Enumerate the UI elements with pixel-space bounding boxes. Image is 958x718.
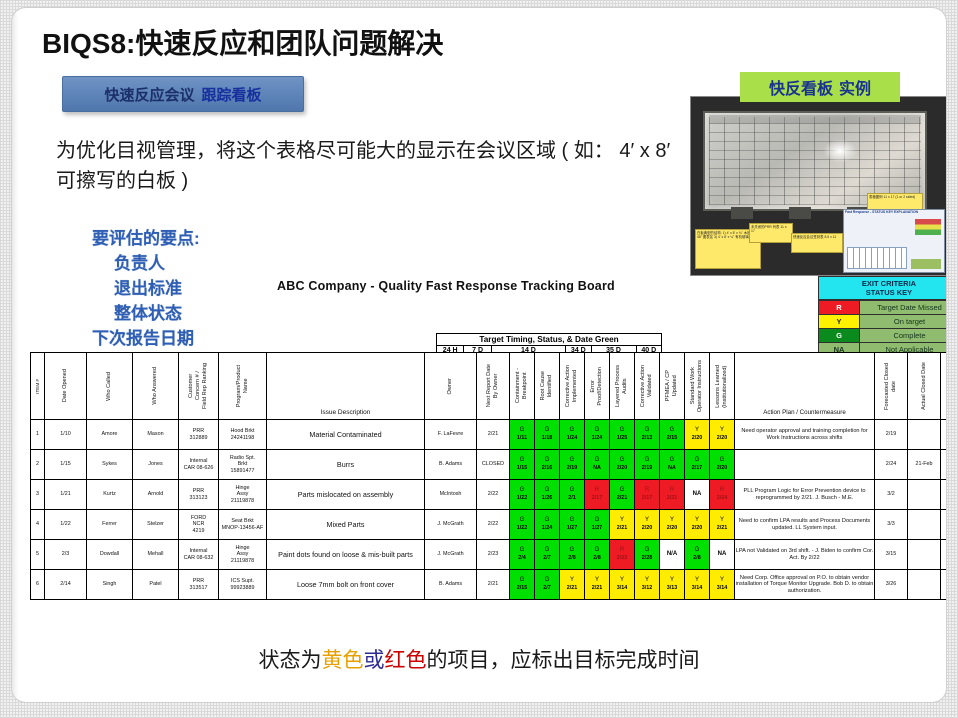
cell-status-7: G2/15	[660, 420, 685, 450]
cell-status-6: G2/19	[635, 450, 660, 480]
cell-actual-closed	[908, 510, 941, 540]
cell-next-report: CLOSED	[477, 450, 510, 480]
cell-status-3: G1/24	[560, 420, 585, 450]
cell-date-opened: 2/14	[45, 570, 87, 600]
cell-issue-description: Loose 7mm bolt on front cover	[267, 570, 425, 600]
footer-red-word: 红色	[385, 649, 427, 672]
slide-canvas: BIQS8:快速反应和团队问题解决 快速反应会议 跟踪看板 为优化目视管理，将这…	[12, 8, 946, 702]
cell-owner: J. McGrath	[425, 510, 477, 540]
cell-program-product: Radio Spt. Brkt 15891477	[219, 450, 267, 480]
cell-status-8: G2/17	[685, 450, 710, 480]
legend-label-g: Complete	[860, 329, 946, 342]
cell-issue-description: Mixed Parts	[267, 510, 425, 540]
header-forecasted-closed: Forecasted Closed date	[875, 353, 908, 420]
cell-status-8: Y3/14	[685, 570, 710, 600]
cell-status-5: G2/21	[610, 480, 635, 510]
footer-part-b: 的项目，应标出目标完成时间	[427, 649, 700, 672]
cell-customer-concern: PRR 312889	[179, 420, 219, 450]
cell-status-4: G1/24	[585, 420, 610, 450]
cell-program-product: Seat Brkt MNOP-13456-AF	[219, 510, 267, 540]
cell-date-opened: 1/10	[45, 420, 87, 450]
cell-forecasted-closed: 3/15	[875, 540, 908, 570]
cell-customer-closed: 18-Feb	[941, 450, 947, 480]
cell-item: 3	[31, 480, 45, 510]
board-photo: 白板典型的结构: 1) 4' x 8' x ¾" 木板 2) 48" 图表区 3…	[690, 96, 946, 276]
cell-who-called: Kurtz	[87, 480, 133, 510]
cell-item: 1	[31, 420, 45, 450]
footer-yellow-word: 黄色	[322, 649, 364, 672]
cell-customer-closed: 25-Jan	[941, 420, 947, 450]
cell-customer-concern: Internal CAR 08-626	[179, 450, 219, 480]
table-row: 62/14SinghPatelPRR 313517ICS Supt. 99923…	[31, 570, 947, 600]
cell-next-report: 2/21	[477, 420, 510, 450]
cell-status-9: Y2/21	[710, 510, 735, 540]
cell-issue-description: Parts mislocated on assembly	[267, 480, 425, 510]
cell-actual-closed	[908, 540, 941, 570]
legend-key-r: R	[819, 301, 860, 314]
cell-item: 5	[31, 540, 45, 570]
photo-example-label: 快反看板 实例	[740, 72, 900, 102]
cell-status-2: G1/24	[535, 510, 560, 540]
header-error-proof: Error Proof/Detection	[585, 353, 610, 420]
key-point-overall-status: 整体状态	[114, 301, 200, 326]
inset-green-block	[911, 259, 941, 269]
cell-status-3: G2/8	[560, 540, 585, 570]
legend-header: EXIT CRITERIA STATUS KEY	[819, 277, 946, 300]
header-date-opened: Date Opened	[45, 353, 87, 420]
cell-status-4: GNA	[585, 450, 610, 480]
cell-action-plan: PLL Program Logic for Error Prevention d…	[735, 480, 875, 510]
cell-status-8: Y2/20	[685, 420, 710, 450]
key-points-list: 要评估的要点: 负责人 退出标准 整体状态 下次报告日期	[92, 226, 200, 351]
cell-status-1: G2/15	[510, 570, 535, 600]
header-customer-closed: Customer Closed Date	[941, 353, 947, 420]
cell-status-6: Y2/20	[635, 510, 660, 540]
cell-status-7: N/A	[660, 540, 685, 570]
cell-status-5: Y3/14	[610, 570, 635, 600]
cell-status-4: Y2/21	[585, 570, 610, 600]
cell-date-opened: 1/22	[45, 510, 87, 540]
cell-issue-description: Burrs	[267, 450, 425, 480]
cell-status-1: G1/22	[510, 510, 535, 540]
cell-who-answered: Mehall	[133, 540, 179, 570]
legend-row: Y On target	[819, 314, 946, 328]
legend-header-line1: EXIT CRITERIA	[819, 279, 946, 288]
cell-status-9: Y3/14	[710, 570, 735, 600]
header-corrective-action-implemented: Corrective Action Implemented	[560, 353, 585, 420]
cell-item: 6	[31, 570, 45, 600]
cell-status-4: G2/8	[585, 540, 610, 570]
cell-who-answered: Arnold	[133, 480, 179, 510]
inset-chart	[847, 247, 907, 269]
cell-status-6: R2/17	[635, 480, 660, 510]
cell-customer-concern: PRR 313123	[179, 480, 219, 510]
page-title: BIQS8:快速反应和团队问题解决	[42, 22, 443, 62]
board-leg	[789, 207, 811, 219]
cell-owner: B. Adams	[425, 570, 477, 600]
header-next-report: Next Report Date By Owner	[477, 353, 510, 420]
cell-who-answered: Patel	[133, 570, 179, 600]
table-row: 52/3DowdallMehallInternal CAR 08-632Hing…	[31, 540, 947, 570]
cell-forecasted-closed: 3/2	[875, 480, 908, 510]
cell-date-opened: 1/21	[45, 480, 87, 510]
cell-forecasted-closed: 3/3	[875, 510, 908, 540]
cell-owner: J. McGrath	[425, 540, 477, 570]
cell-status-8: NA	[685, 480, 710, 510]
cell-program-product: Hinge Assy 21119878	[219, 480, 267, 510]
cell-next-report: 2/22	[477, 510, 510, 540]
cell-who-answered: Jones	[133, 450, 179, 480]
photo-label-primary: 快反看板	[769, 75, 833, 99]
table-header-row: ITEM # Date Opened Who Called Who Answer…	[31, 353, 947, 420]
cell-status-6: G2/13	[635, 420, 660, 450]
glare-highlight	[823, 139, 857, 163]
cell-status-1: G1/11	[510, 420, 535, 450]
cell-status-9: NA	[710, 540, 735, 570]
board-leg	[731, 207, 753, 219]
header-issue-description: Issue Description	[267, 353, 425, 420]
cell-actual-closed	[908, 420, 941, 450]
cell-item: 2	[31, 450, 45, 480]
page-backdrop: BIQS8:快速反应和团队问题解决 快速反应会议 跟踪看板 为优化目视管理，将这…	[0, 0, 958, 718]
table-row: 11/10AmoreMasonPRR 312889Hood Brkt 24241…	[31, 420, 947, 450]
cell-owner: F. LaFevre	[425, 420, 477, 450]
cell-actual-closed	[908, 570, 941, 600]
cell-forecasted-closed: 3/26	[875, 570, 908, 600]
legend-label-r: Target Date Missed	[860, 301, 946, 314]
cell-status-8: G2/8	[685, 540, 710, 570]
cell-who-called: Ferrer	[87, 510, 133, 540]
header-action-plan: Action Plan / Countermeasure	[735, 353, 875, 420]
legend-row: G Complete	[819, 328, 946, 342]
header-actual-closed: Actual Closed Date	[908, 353, 941, 420]
cell-status-1: G2/4	[510, 540, 535, 570]
key-point-exit-criteria: 退出标准	[114, 276, 200, 301]
header-owner: Owner	[425, 353, 477, 420]
footer-part-a: 状态为	[259, 649, 322, 672]
header-standard-work: Standard Work Operator Instructions	[685, 353, 710, 420]
cell-status-1: G1/22	[510, 480, 535, 510]
cell-action-plan: LPA not Validated on 3rd shift. - J. Bid…	[735, 540, 875, 570]
cell-who-called: Dowdall	[87, 540, 133, 570]
target-timing-group-label: Target Timing, Status, & Date Green	[436, 333, 662, 345]
callout-signin-sheet: 快速反应会议签到表 8.5 x 11	[791, 233, 843, 253]
cell-status-7: Y3/13	[660, 570, 685, 600]
cell-status-2: G2/7	[535, 570, 560, 600]
status-swatches	[915, 219, 941, 235]
cell-status-1: G1/15	[510, 450, 535, 480]
footer-note: 状态为黄色或红色的项目，应标出目标完成时间	[12, 644, 946, 674]
cell-actual-closed: 21-Feb	[908, 450, 941, 480]
cell-action-plan	[735, 450, 875, 480]
cell-customer-concern: Internal CAR 08-632	[179, 540, 219, 570]
cell-issue-description: Material Contaminated	[267, 420, 425, 450]
table-row: 41/22FerrerStelzerFORD NCR 4219Seat Brkt…	[31, 510, 947, 540]
cell-forecasted-closed: 2/24	[875, 450, 908, 480]
cell-status-4: R2/17	[585, 480, 610, 510]
header-program-product: Program/Product Name	[219, 353, 267, 420]
whiteboard-header-strip	[709, 115, 921, 124]
cell-customer-closed: 2-Feb	[941, 510, 947, 540]
cell-action-plan: Need operator approval and training comp…	[735, 420, 875, 450]
exit-criteria-legend: EXIT CRITERIA STATUS KEY R Target Date M…	[818, 276, 946, 357]
cell-status-2: G2/16	[535, 450, 560, 480]
fast-response-tracking-table: ITEM # Date Opened Who Called Who Answer…	[30, 352, 946, 600]
header-customer-concern: Customer Concern # / Field Rep Ranking	[179, 353, 219, 420]
header-root-cause: Root Cause Identified	[535, 353, 560, 420]
cell-program-product: ICS Supt. 99923889	[219, 570, 267, 600]
cell-status-6: Y3/12	[635, 570, 660, 600]
cell-status-2: G1/26	[535, 480, 560, 510]
header-corrective-action-validated: Corrective Action Validated	[635, 353, 660, 420]
cell-date-opened: 1/15	[45, 450, 87, 480]
cell-status-3: Y2/21	[560, 570, 585, 600]
cell-action-plan: Need to confirm LPA results and Process …	[735, 510, 875, 540]
table-row: 21/15SykesJonesInternal CAR 08-626Radio …	[31, 450, 947, 480]
cell-action-plan: Need Corp. Office approval on P.O. to ob…	[735, 570, 875, 600]
header-lessons-learned: Lessons Learned (Institutionalized)	[710, 353, 735, 420]
header-who-called: Who Called	[87, 353, 133, 420]
cell-customer-concern: PRR 313517	[179, 570, 219, 600]
header-who-answered: Who Answered	[133, 353, 179, 420]
cell-item: 4	[31, 510, 45, 540]
header-item: ITEM #	[31, 353, 45, 420]
cell-customer-closed	[941, 540, 947, 570]
cell-status-9: G2/20	[710, 450, 735, 480]
legend-key-g: G	[819, 329, 860, 342]
cell-status-7: R2/21	[660, 480, 685, 510]
whiteboard-grid	[709, 117, 921, 205]
cell-next-report: 2/21	[477, 570, 510, 600]
header-layered-process-audits: Layered Process Audits	[610, 353, 635, 420]
cell-status-7: Y2/20	[660, 510, 685, 540]
cell-who-called: Singh	[87, 570, 133, 600]
banner-text-primary: 快速反应会议	[104, 84, 194, 105]
cell-date-opened: 2/3	[45, 540, 87, 570]
cell-status-9: Y2/20	[710, 420, 735, 450]
header-containment: Containment - Breakpoint	[510, 353, 535, 420]
legend-key-y: Y	[819, 315, 860, 328]
status-key-inset-title: Fast Response - STATUS KEY EXPLANATION	[845, 211, 943, 215]
cell-status-5: R2/23	[610, 540, 635, 570]
cell-customer-closed	[941, 480, 947, 510]
legend-row: R Target Date Missed	[819, 300, 946, 314]
cell-customer-concern: FORD NCR 4219	[179, 510, 219, 540]
cell-status-8: Y2/20	[685, 510, 710, 540]
table-row: 31/21KurtzArnoldPRR 313123Hinge Assy 211…	[31, 480, 947, 510]
cell-program-product: Hood Brkt 24241198	[219, 420, 267, 450]
legend-header-line2: STATUS KEY	[819, 288, 946, 297]
cell-program-product: Hinge Assy 21119878	[219, 540, 267, 570]
key-point-owner: 负责人	[114, 251, 200, 276]
cell-owner: B. Adams	[425, 450, 477, 480]
cell-status-3: G2/19	[560, 450, 585, 480]
cell-status-6: G2/28	[635, 540, 660, 570]
cell-next-report: 2/23	[477, 540, 510, 570]
instruction-paragraph: 为优化目视管理，将这个表格尽可能大的显示在会议区域 ( 如： 4′ x 8′ 可…	[56, 136, 686, 196]
cell-issue-description: Paint dots found on loose & mis-built pa…	[267, 540, 425, 570]
cell-status-2: G1/18	[535, 420, 560, 450]
status-key-inset: Fast Response - STATUS KEY EXPLANATION	[843, 209, 945, 273]
quick-response-banner: 快速反应会议 跟踪看板	[62, 76, 304, 112]
callout-open-prr-list: 未关闭的PRR 列表 11 x 17	[749, 223, 793, 243]
banner-text-secondary: 跟踪看板	[202, 84, 262, 105]
cell-status-3: G1/27	[560, 510, 585, 540]
title-main: 快速反应和团队问题解决	[135, 28, 443, 59]
cell-status-9: R2/24	[710, 480, 735, 510]
cell-who-answered: Stelzer	[133, 510, 179, 540]
cell-status-4: G1/27	[585, 510, 610, 540]
key-points-heading: 要评估的要点:	[92, 226, 200, 251]
header-pfmea-cp: PFMEA / CP Updated	[660, 353, 685, 420]
cell-actual-closed	[908, 480, 941, 510]
photo-label-secondary: 实例	[839, 75, 871, 99]
table-body: 11/10AmoreMasonPRR 312889Hood Brkt 24241…	[31, 420, 947, 600]
cell-who-called: Amore	[87, 420, 133, 450]
cell-who-called: Sykes	[87, 450, 133, 480]
cell-customer-closed	[941, 570, 947, 600]
cell-status-5: G1/25	[610, 420, 635, 450]
legend-label-y: On target	[860, 315, 946, 328]
key-point-next-report-date: 下次报告日期	[92, 326, 200, 351]
title-prefix: BIQS8:	[42, 28, 135, 59]
footer-or-word: 或	[364, 649, 385, 672]
cell-status-5: Y2/21	[610, 510, 635, 540]
cell-next-report: 2/22	[477, 480, 510, 510]
tracking-board-title: ABC Company - Quality Fast Response Trac…	[277, 279, 615, 293]
cell-status-5: G2/20	[610, 450, 635, 480]
cell-owner: McIntosh	[425, 480, 477, 510]
cell-who-answered: Mason	[133, 420, 179, 450]
cell-status-3: G2/1	[560, 480, 585, 510]
cell-forecasted-closed: 2/19	[875, 420, 908, 450]
cell-status-2: G2/7	[535, 540, 560, 570]
cell-status-7: GNA	[660, 450, 685, 480]
